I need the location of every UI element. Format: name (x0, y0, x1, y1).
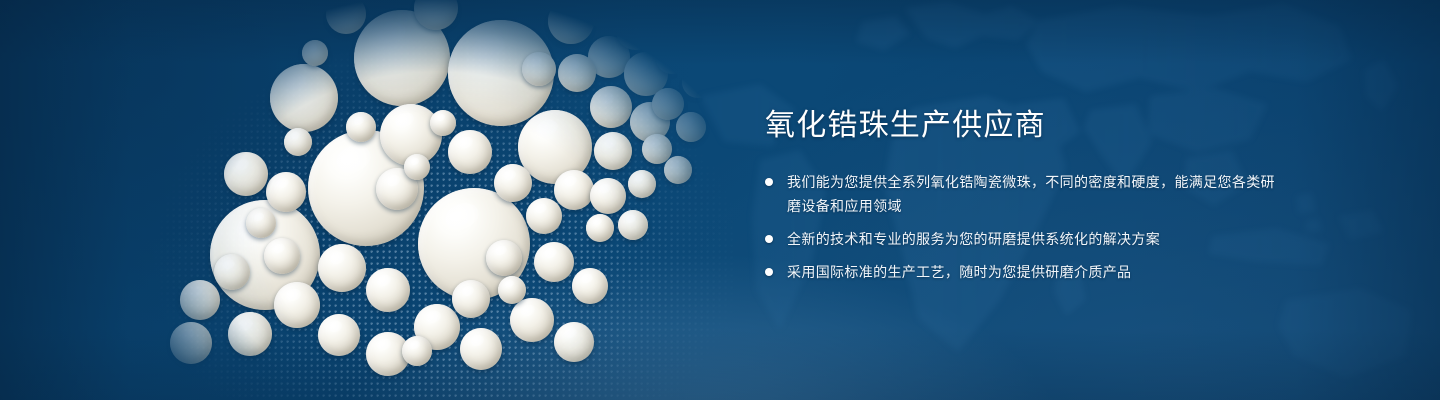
beads-cluster (118, 0, 736, 400)
bead (494, 164, 532, 202)
feature-list: 我们能为您提供全系列氧化锆陶瓷微珠，不同的密度和硬度，能满足您各类研磨设备和应用… (765, 171, 1285, 285)
bead (448, 130, 492, 174)
bead (318, 314, 360, 356)
bead (684, 18, 716, 50)
bead (628, 170, 656, 198)
list-item: 全新的技术和专业的服务为您的研磨提供系统化的解决方案 (765, 228, 1285, 252)
bead (526, 198, 562, 234)
bullet-dot-icon (765, 268, 773, 276)
bead (346, 112, 376, 142)
bullet-dot-icon (765, 178, 773, 186)
bead (664, 156, 692, 184)
bead (404, 154, 430, 180)
bead (554, 170, 594, 210)
bead (284, 128, 312, 156)
bead (616, 10, 656, 50)
bead (522, 52, 556, 86)
bead (510, 298, 554, 342)
bead (656, 42, 688, 74)
banner-copy: 氧化锆珠生产供应商 我们能为您提供全系列氧化锆陶瓷微珠，不同的密度和硬度，能满足… (765, 108, 1285, 285)
bullet-dot-icon (765, 235, 773, 243)
list-item-label: 全新的技术和专业的服务为您的研磨提供系统化的解决方案 (787, 228, 1160, 252)
bead (180, 280, 220, 320)
bead (618, 210, 648, 240)
bead (228, 312, 272, 356)
bead (214, 254, 250, 290)
bead (318, 244, 366, 292)
bead (676, 112, 706, 142)
list-item-label: 采用国际标准的生产工艺，随时为您提供研磨介质产品 (787, 261, 1131, 285)
bead (264, 238, 300, 274)
bead (558, 54, 596, 92)
list-item: 采用国际标准的生产工艺，随时为您提供研磨介质产品 (765, 261, 1285, 285)
bead (246, 208, 276, 238)
bead (460, 328, 502, 370)
list-item: 我们能为您提供全系列氧化锆陶瓷微珠，不同的密度和硬度，能满足您各类研磨设备和应用… (765, 171, 1285, 219)
bead (326, 0, 366, 34)
bead (224, 152, 268, 196)
list-item-label: 我们能为您提供全系列氧化锆陶瓷微珠，不同的密度和硬度，能满足您各类研磨设备和应用… (787, 171, 1285, 219)
bead (586, 214, 614, 242)
bead (430, 110, 456, 136)
bead (590, 86, 632, 128)
bead (594, 132, 632, 170)
bead (704, 0, 732, 22)
bead (266, 172, 306, 212)
bead (682, 66, 714, 98)
bead (486, 240, 522, 276)
bead (170, 322, 212, 364)
bead (572, 268, 608, 304)
bead (274, 282, 320, 328)
bead (554, 322, 594, 362)
bead (402, 336, 432, 366)
bead (366, 268, 410, 312)
bead (302, 40, 328, 66)
bead (712, 38, 738, 64)
page-title: 氧化锆珠生产供应商 (765, 108, 1285, 145)
bead (534, 242, 574, 282)
bead (270, 64, 338, 132)
bead (652, 88, 684, 120)
bead (658, 0, 692, 26)
hero-banner: 氧化锆珠生产供应商 我们能为您提供全系列氧化锆陶瓷微珠，不同的密度和硬度，能满足… (0, 0, 1440, 400)
zirconia-beads-photo (118, 0, 736, 400)
bead (498, 276, 526, 304)
bead (590, 178, 626, 214)
bead (452, 280, 490, 318)
